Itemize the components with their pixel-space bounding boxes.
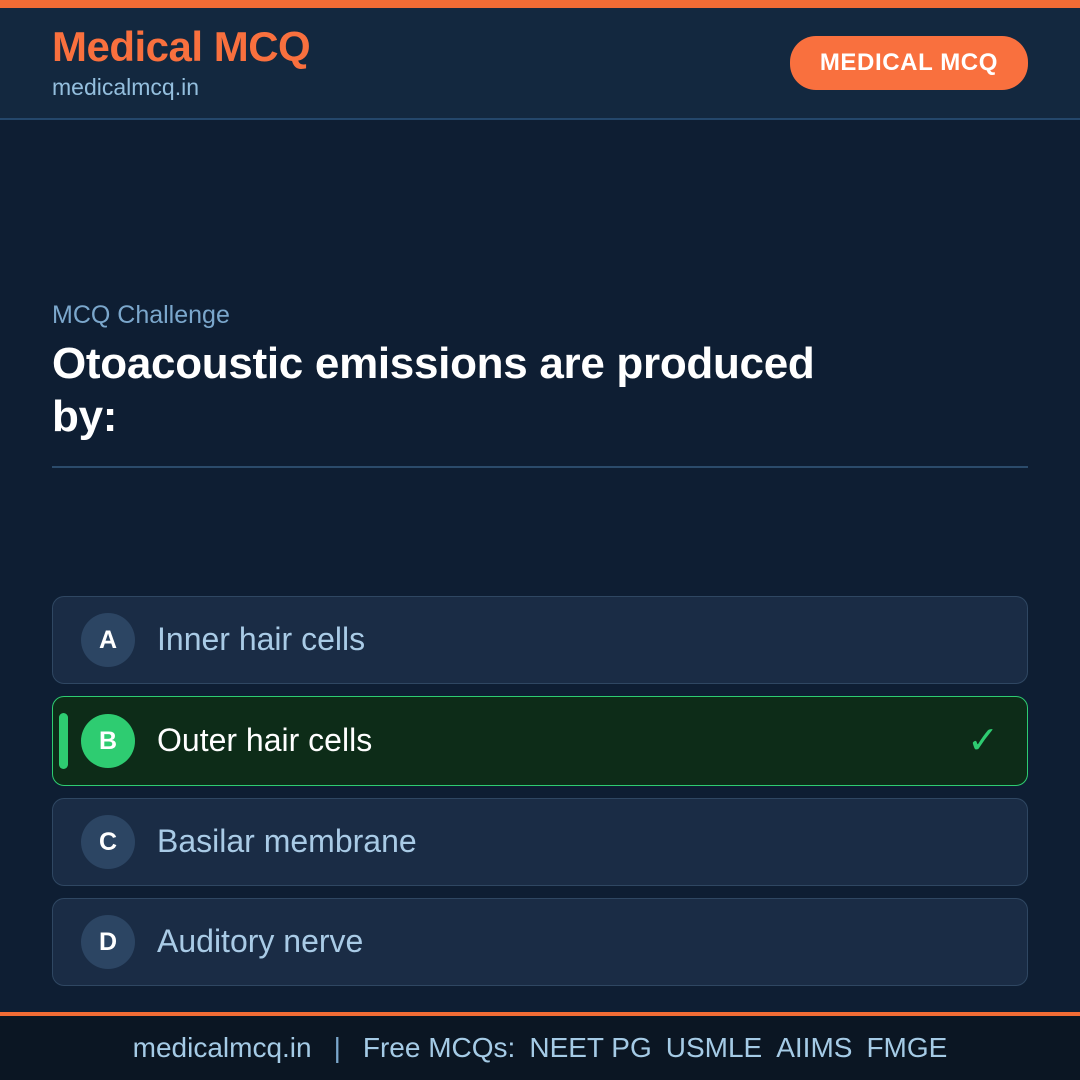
- footer-text: medicalmcq.in | Free MCQs: NEET PG USMLE…: [133, 1032, 948, 1064]
- question-divider: [52, 466, 1028, 468]
- option-c[interactable]: C Basilar membrane: [52, 798, 1028, 886]
- brand: Medical MCQ medicalmcq.in: [52, 25, 310, 100]
- header: Medical MCQ medicalmcq.in MEDICAL MCQ: [0, 8, 1080, 120]
- correct-accent-bar: [59, 713, 68, 769]
- option-d[interactable]: D Auditory nerve: [52, 898, 1028, 986]
- top-accent-bar: [0, 0, 1080, 8]
- option-letter-badge: D: [81, 915, 135, 969]
- option-label: Basilar membrane: [157, 824, 417, 859]
- option-b[interactable]: B Outer hair cells ✓: [52, 696, 1028, 786]
- question-eyebrow: MCQ Challenge: [52, 300, 1028, 330]
- brand-title: Medical MCQ: [52, 25, 310, 69]
- options-list: A Inner hair cells B Outer hair cells ✓ …: [52, 596, 1028, 986]
- option-label: Outer hair cells: [157, 723, 372, 758]
- footer-exam-aiims[interactable]: AIIMS: [776, 1032, 852, 1064]
- option-label: Inner hair cells: [157, 622, 365, 657]
- footer-site[interactable]: medicalmcq.in: [133, 1032, 312, 1064]
- main-content: MCQ Challenge Otoacoustic emissions are …: [0, 120, 1080, 1012]
- option-a[interactable]: A Inner hair cells: [52, 596, 1028, 684]
- footer-exam-neet-pg[interactable]: NEET PG: [529, 1032, 651, 1064]
- option-letter-badge: B: [81, 714, 135, 768]
- mcq-card: Medical MCQ medicalmcq.in MEDICAL MCQ MC…: [0, 0, 1080, 1080]
- option-letter-badge: C: [81, 815, 135, 869]
- option-label: Auditory nerve: [157, 924, 363, 959]
- question-block: MCQ Challenge Otoacoustic emissions are …: [52, 300, 1028, 468]
- brand-badge: MEDICAL MCQ: [790, 36, 1028, 90]
- question-text: Otoacoustic emissions are produced by:: [52, 338, 852, 444]
- footer: medicalmcq.in | Free MCQs: NEET PG USMLE…: [0, 1012, 1080, 1080]
- check-icon: ✓: [967, 722, 999, 760]
- footer-exam-fmge[interactable]: FMGE: [866, 1032, 947, 1064]
- footer-separator: |: [334, 1032, 341, 1064]
- brand-subtitle: medicalmcq.in: [52, 75, 310, 100]
- footer-label: Free MCQs:: [363, 1032, 515, 1064]
- option-letter-badge: A: [81, 613, 135, 667]
- footer-exam-usmle[interactable]: USMLE: [666, 1032, 762, 1064]
